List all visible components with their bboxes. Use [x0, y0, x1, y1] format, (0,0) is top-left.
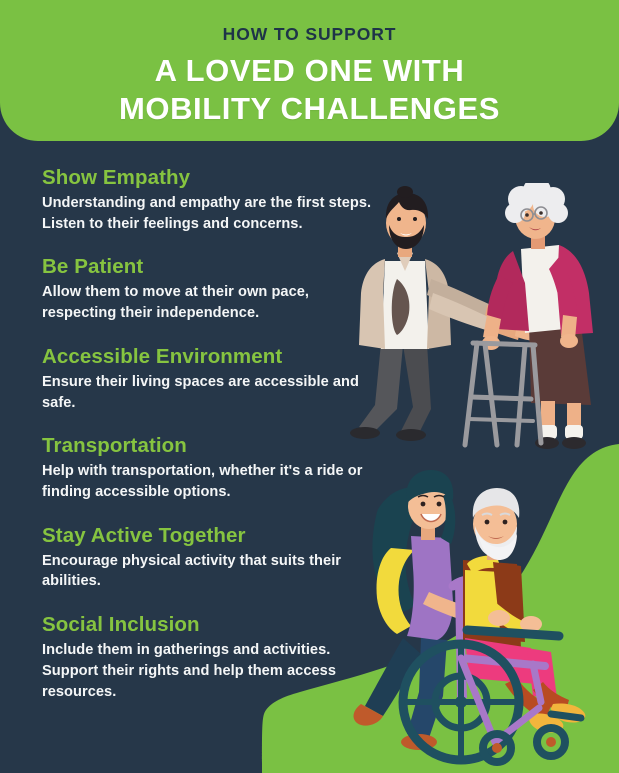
infographic-poster: HOW TO SUPPORT A LOVED ONE WITH MOBILITY…: [0, 0, 619, 773]
tip-title: Be Patient: [42, 255, 372, 279]
tip-title: Transportation: [42, 434, 372, 458]
tip-body: Understanding and empathy are the first …: [42, 193, 372, 234]
illustration-woman-pushing-man-in-wheelchair: [345, 452, 619, 773]
tip-title: Show Empathy: [42, 166, 372, 190]
tip-body: Help with transportation, whether it's a…: [42, 461, 372, 502]
tip-item-stay-active-together: Stay Active Together Encourage physical …: [42, 524, 372, 592]
header-title: A LOVED ONE WITH MOBILITY CHALLENGES: [0, 52, 619, 128]
tip-body: Include them in gatherings and activitie…: [42, 640, 372, 702]
poster-header: HOW TO SUPPORT A LOVED ONE WITH MOBILITY…: [0, 0, 619, 141]
tip-item-be-patient: Be Patient Allow them to move at their o…: [42, 255, 372, 323]
tip-item-show-empathy: Show Empathy Understanding and empathy a…: [42, 166, 372, 234]
header-kicker: HOW TO SUPPORT: [0, 24, 619, 45]
tip-title: Accessible Environment: [42, 345, 372, 369]
tip-body: Ensure their living spaces are accessibl…: [42, 372, 372, 413]
tip-body: Allow them to move at their own pace, re…: [42, 282, 372, 323]
tips-list: Show Empathy Understanding and empathy a…: [42, 166, 372, 702]
tip-item-social-inclusion: Social Inclusion Include them in gatheri…: [42, 613, 372, 702]
illustration-man-helping-woman-with-walker: [345, 183, 619, 455]
tip-item-accessible-environment: Accessible Environment Ensure their livi…: [42, 345, 372, 413]
tip-body: Encourage physical activity that suits t…: [42, 551, 372, 592]
tip-title: Stay Active Together: [42, 524, 372, 548]
tip-title: Social Inclusion: [42, 613, 372, 637]
illustration-walker-frame: [465, 343, 541, 445]
tip-item-transportation: Transportation Help with transportation,…: [42, 434, 372, 502]
header-title-line-2: MOBILITY CHALLENGES: [0, 90, 619, 128]
header-title-line-1: A LOVED ONE WITH: [0, 52, 619, 90]
illustration-figure-elderly-man: [463, 488, 585, 733]
